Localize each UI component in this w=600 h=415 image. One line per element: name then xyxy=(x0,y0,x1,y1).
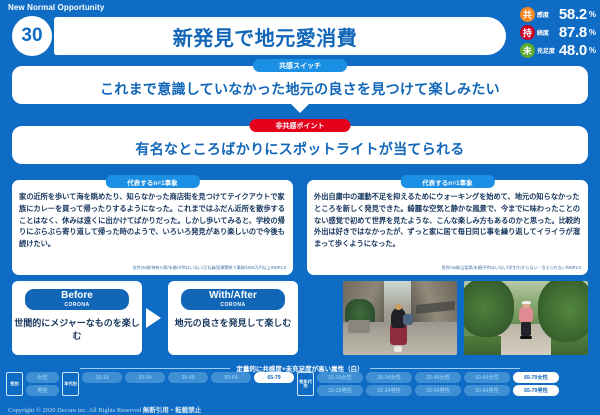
footer: Copyright © 2020 Decom inc. All Rights R… xyxy=(8,404,201,414)
stat-row-sympathy: 共 感度 58.2 % xyxy=(520,6,596,23)
age-chip-row-spacer xyxy=(82,385,294,396)
sympathy-switch-panel: 共感スイッチ これまで意識していなかった地元の良さを見つけて楽しみたい xyxy=(12,66,588,104)
gender-age-male-row: 15-19男性 20-34男性 35-49男性 50-64男性 65-79男性 xyxy=(317,385,559,396)
chip-65-79-female[interactable]: 65-79女性 xyxy=(513,372,559,383)
sympathy-value: 58.2 xyxy=(559,6,587,23)
after-description: 地元の良さを発見して楽しむ xyxy=(175,317,292,330)
before-pill: Before CORONA xyxy=(25,289,129,310)
non-sympathy-tag: 非共感ポイント xyxy=(250,119,351,132)
duration-unit: % xyxy=(589,28,596,37)
before-label: Before xyxy=(61,291,93,302)
duration-badge-icon: 持 xyxy=(520,25,535,40)
unmet-value: 48.0 xyxy=(559,42,587,59)
chip-age-50-64[interactable]: 50-64 xyxy=(211,372,251,383)
chip-15-19-female[interactable]: 15-19女性 xyxy=(317,372,363,383)
after-sublabel: CORONA xyxy=(220,302,245,308)
chip-50-64-female[interactable]: 50-64女性 xyxy=(464,372,510,383)
right-arrow-icon xyxy=(146,308,161,328)
quote-box-right: 代表するn=1事象 外出自粛中の運動不足を抑えるためにウォーキングを始めて、地元… xyxy=(307,180,588,275)
sympathy-badge-icon: 共 xyxy=(520,7,535,22)
woman-walking-tree-lined-path-photo xyxy=(464,281,588,355)
chip-15-19-male[interactable]: 15-19男性 xyxy=(317,385,363,396)
header-rule-right xyxy=(370,368,520,369)
non-sympathy-text: 有名なところばかりにスポットライトが当てられる xyxy=(12,139,588,159)
quote-left-attribution: 女性/34歳/神奈川県/未婚/子供はいない/正社員/医療関係で事務/1000万円… xyxy=(133,265,286,271)
sympathy-switch-tag: 共感スイッチ xyxy=(253,59,347,72)
unmet-label: 充足度 xyxy=(537,46,557,55)
quote-left-tag: 代表するn=1事象 xyxy=(105,175,199,188)
chip-age-20-34[interactable]: 20-34 xyxy=(125,372,165,383)
chip-male[interactable]: 男性 xyxy=(26,385,59,396)
eyebrow-label: New Normal Opportunity xyxy=(8,3,104,12)
header-rule-left xyxy=(80,368,230,369)
duration-value: 87.8 xyxy=(559,24,587,41)
gender-chips: 女性 男性 xyxy=(26,372,59,396)
unmet-badge-icon: 未 xyxy=(520,43,535,58)
unmet-unit: % xyxy=(589,46,596,55)
duration-label: 続度 xyxy=(537,28,557,37)
chip-20-34-female[interactable]: 20-34女性 xyxy=(366,372,412,383)
before-corona-box: Before CORONA 世間的にメジャーなものを楽しむ xyxy=(12,281,142,355)
sympathy-switch-text: これまで意識していなかった地元の良さを見つけて楽しみたい xyxy=(12,79,588,99)
chip-20-34-male[interactable]: 20-34男性 xyxy=(366,385,412,396)
copyright-text: Copyright © 2020 Decom inc. All Rights R… xyxy=(8,407,141,414)
chip-age-15-19[interactable]: 15-19 xyxy=(82,372,122,383)
chip-35-49-female[interactable]: 35-49女性 xyxy=(415,372,461,383)
category-gender-age-label: 性年代別 xyxy=(297,372,314,396)
chip-age-35-49[interactable]: 35-49 xyxy=(168,372,208,383)
non-sympathy-panel: 非共感ポイント 有名なところばかりにスポットライトが当てられる xyxy=(12,126,588,164)
street-shopping-district-photo xyxy=(343,281,457,355)
down-arrow-icon xyxy=(291,104,309,113)
gender-age-chips: 15-19女性 20-34女性 35-49女性 50-64女性 65-79女性 … xyxy=(317,372,559,396)
chip-65-79-male[interactable]: 65-79男性 xyxy=(513,385,559,396)
title-pill: 新発見で地元愛消費 xyxy=(54,17,506,55)
gender-age-female-row: 15-19女性 20-34女性 35-49女性 50-64女性 65-79女性 xyxy=(317,372,559,383)
quote-box-left: 代表するn=1事象 家の近所を歩いて海を眺めたり、知らなかった商店街を見つけてテ… xyxy=(12,180,293,275)
sympathy-unit: % xyxy=(589,10,596,19)
quote-right-tag: 代表するn=1事象 xyxy=(400,175,494,188)
chip-35-49-male[interactable]: 35-49男性 xyxy=(415,385,461,396)
age-chips: 15-19 20-34 35-49 50-64 65-79 xyxy=(82,372,294,396)
slide-number: 30 xyxy=(21,25,42,47)
age-chip-row: 15-19 20-34 35-49 50-64 65-79 xyxy=(82,372,294,383)
before-description: 世間的にメジャーなものを楽しむ xyxy=(12,317,142,343)
after-label: With/After xyxy=(209,291,257,302)
chip-female[interactable]: 女性 xyxy=(26,372,59,383)
stat-row-duration: 持 続度 87.8 % xyxy=(520,24,596,41)
quote-right-attribution: 男性/16歳/山梨県/未婚/子供はいない/学生/わからない・言えられない/NNP… xyxy=(442,265,581,271)
after-pill: With/After CORONA xyxy=(181,289,285,310)
quote-left-body: 家の近所を歩いて海を眺めたり、知らなかった商店街を見つけてテイクアウトで家族にカ… xyxy=(12,180,293,250)
attribute-table: 性別 女性 男性 年代別 15-19 20-34 35-49 50-64 65-… xyxy=(6,372,559,396)
slide-root: New Normal Opportunity 30 新発見で地元愛消費 共 感度… xyxy=(0,0,600,415)
before-sublabel: CORONA xyxy=(64,302,89,308)
category-age-label: 年代別 xyxy=(62,372,79,396)
chip-age-65-79[interactable]: 65-79 xyxy=(254,372,294,383)
stats-group: 共 感度 58.2 % 持 続度 87.8 % 未 充足度 48.0 % xyxy=(520,6,596,59)
quote-right-body: 外出自粛中の運動不足を抑えるためにウォーキングを始めて、地元の知らなかったところ… xyxy=(307,180,588,250)
page-title: 新発見で地元愛消費 xyxy=(173,22,358,51)
chip-50-64-male[interactable]: 50-64男性 xyxy=(464,385,510,396)
slide-number-badge: 30 xyxy=(12,16,52,56)
sympathy-label: 感度 xyxy=(537,10,557,19)
with-after-corona-box: With/After CORONA 地元の良さを発見して楽しむ xyxy=(168,281,298,355)
reprint-notice: 無断引用・転載禁止 xyxy=(143,407,202,414)
category-gender-label: 性別 xyxy=(6,372,23,396)
stat-row-unmet: 未 充足度 48.0 % xyxy=(520,42,596,59)
